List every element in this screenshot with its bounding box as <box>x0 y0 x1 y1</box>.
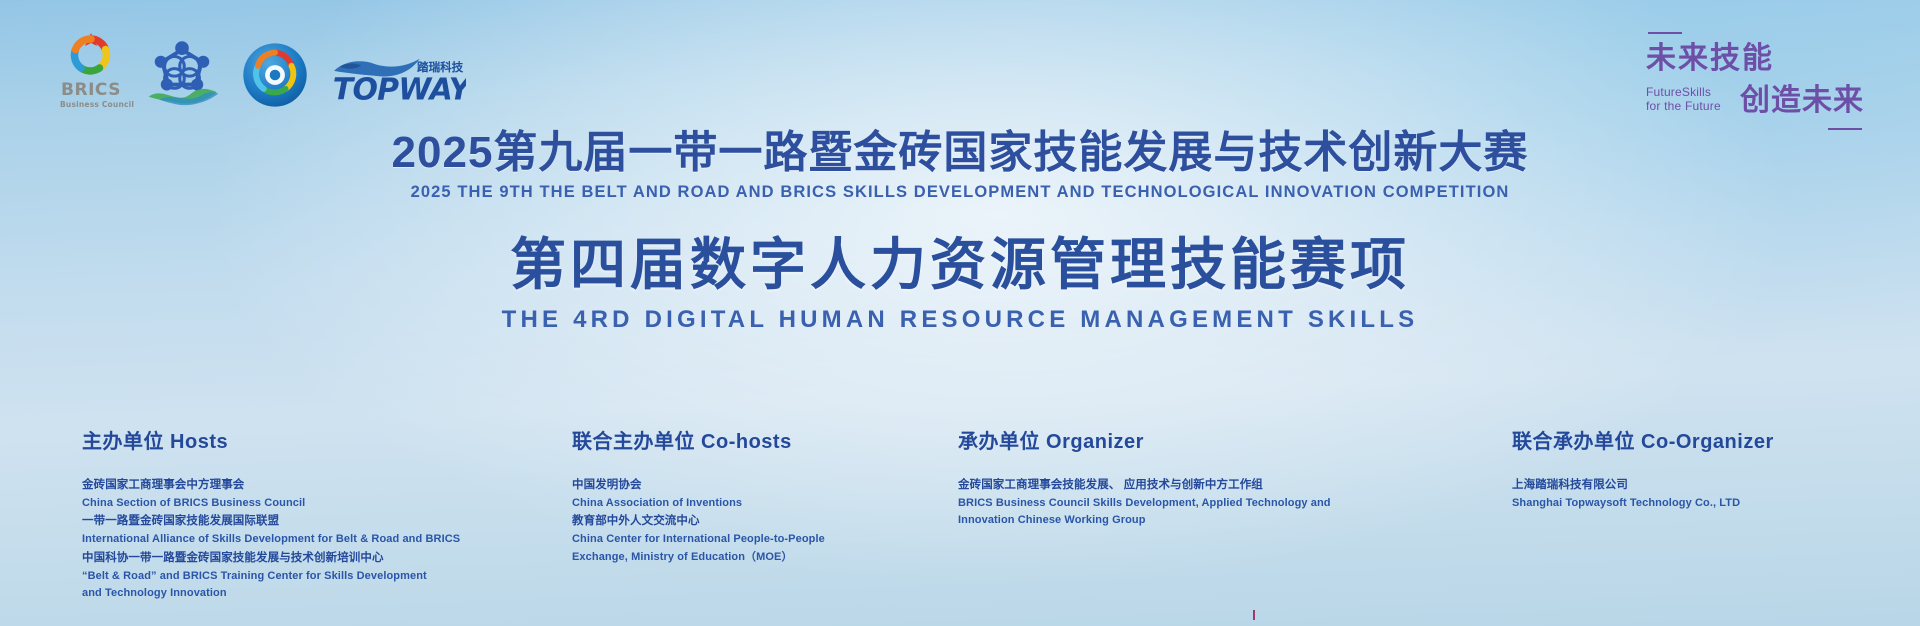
skills-alliance-logo <box>144 36 220 108</box>
future-skills-cn-top: 未来技能 <box>1646 44 1774 74</box>
main-title-en: 2025 THE 9TH THE BELT AND ROAD AND BRICS… <box>0 183 1920 202</box>
credit-line: 金砖国家工商理事会中方理事会 <box>82 476 512 495</box>
credit-heading: 联合主办单位 Co-hosts <box>572 430 972 454</box>
sub-title-en: THE 4RD DIGITAL HUMAN RESOURCE MANAGEMEN… <box>0 306 1920 334</box>
future-skills-cn-bottom: 创造未来 <box>1740 86 1864 116</box>
credit-line: “Belt & Road” and BRICS Training Center … <box>82 568 512 586</box>
credit-line: and Technology Innovation <box>82 585 512 603</box>
credit-line: 中国科协一带一路暨金砖国家技能发展与技术创新培训中心 <box>82 549 512 568</box>
competition-emblem-logo <box>242 42 308 108</box>
credit-line: Exchange, Ministry of Education（MOE） <box>572 549 972 567</box>
credit-line: China Center for International People-to… <box>572 531 972 549</box>
bottom-tick-mark <box>1253 610 1255 620</box>
credit-line: International Alliance of Skills Develop… <box>82 531 512 549</box>
credit-lines: 金砖国家工商理事会中方理事会 China Section of BRICS Bu… <box>82 476 512 603</box>
credit-line: 上海踏瑞科技有限公司 <box>1512 476 1912 495</box>
svg-text:踏瑞科技: 踏瑞科技 <box>417 60 464 74</box>
credit-column-co-hosts: 联合主办单位 Co-hosts 中国发明协会 China Association… <box>572 430 972 567</box>
brics-wordmark: BRICS <box>60 82 122 99</box>
future-skills-en-line2: for the Future <box>1646 100 1721 114</box>
credit-line: Shanghai Topwaysoft Technology Co., LTD <box>1512 495 1912 513</box>
future-skills-en-line1: FutureSkills <box>1646 86 1721 100</box>
credit-line: Innovation Chinese Working Group <box>958 512 1388 530</box>
brics-subtitle: Business Council <box>60 101 122 109</box>
credit-lines: 金砖国家工商理事会技能发展、 应用技术与创新中方工作组 BRICS Busine… <box>958 476 1388 530</box>
credits-block: 主办单位 Hosts 金砖国家工商理事会中方理事会 China Section … <box>0 430 1920 620</box>
credit-column-organizer: 承办单位 Organizer 金砖国家工商理事会技能发展、 应用技术与创新中方工… <box>958 430 1388 530</box>
brics-business-council-logo: BRICS Business Council <box>60 30 122 108</box>
credit-line: China Section of BRICS Business Council <box>82 495 512 513</box>
credit-heading: 主办单位 Hosts <box>82 430 512 454</box>
sub-title-cn: 第四届数字人力资源管理技能赛项 <box>0 234 1920 296</box>
credit-line: China Association of Inventions <box>572 495 972 513</box>
poster-canvas: BRICS Business Council <box>0 0 1920 626</box>
credit-column-hosts: 主办单位 Hosts 金砖国家工商理事会中方理事会 China Section … <box>82 430 512 603</box>
credit-line: 教育部中外人文交流中心 <box>572 512 972 531</box>
svg-text:TOPWAY: TOPWAY <box>333 72 466 107</box>
credit-line: BRICS Business Council Skills Developmen… <box>958 495 1388 513</box>
title-block: 2025第九届一带一路暨金砖国家技能发展与技术创新大赛 2025 THE 9TH… <box>0 128 1920 334</box>
future-skills-rule-top <box>1648 32 1682 34</box>
credit-line: 中国发明协会 <box>572 476 972 495</box>
future-skills-mark: 未来技能 FutureSkills for the Future 创造未来 <box>1628 24 1868 136</box>
future-skills-en: FutureSkills for the Future <box>1646 86 1721 114</box>
credit-column-co-organizer: 联合承办单位 Co-Organizer 上海踏瑞科技有限公司 Shanghai … <box>1512 430 1912 512</box>
main-title-cn: 2025第九届一带一路暨金砖国家技能发展与技术创新大赛 <box>0 128 1920 177</box>
credit-line: 金砖国家工商理事会技能发展、 应用技术与创新中方工作组 <box>958 476 1388 495</box>
brics-star-icon <box>66 30 116 80</box>
credit-heading: 承办单位 Organizer <box>958 430 1388 454</box>
credit-line: 一带一路暨金砖国家技能发展国际联盟 <box>82 512 512 531</box>
topway-logo: TOPWAY 踏瑞科技 <box>330 46 466 108</box>
credit-lines: 上海踏瑞科技有限公司 Shanghai Topwaysoft Technolog… <box>1512 476 1912 512</box>
credit-heading: 联合承办单位 Co-Organizer <box>1512 430 1912 454</box>
sponsor-logo-row: BRICS Business Council <box>60 30 466 108</box>
credit-lines: 中国发明协会 China Association of Inventions 教… <box>572 476 972 567</box>
